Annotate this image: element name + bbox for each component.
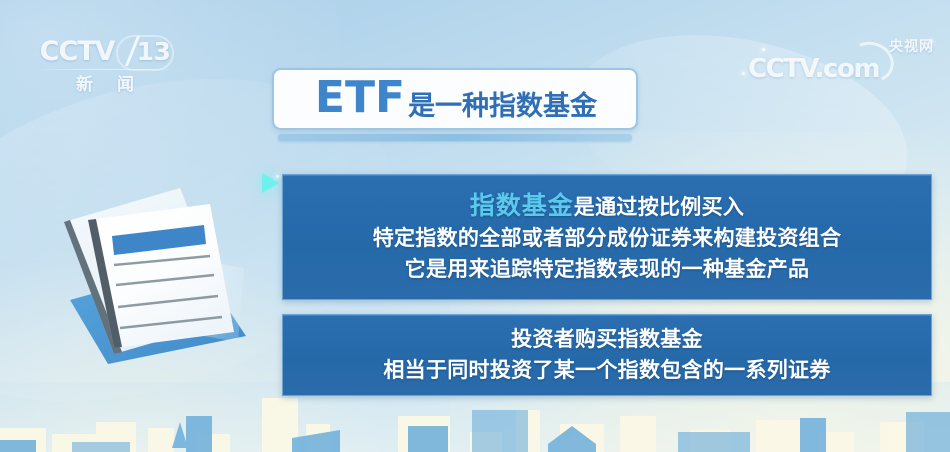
document-stack-illustration (48, 168, 270, 364)
network-name: CCTV (40, 36, 115, 67)
info-line-text: 相当于同时投资了某一个指数包含的一系列证券 (383, 358, 830, 382)
channel-name-cn: 新 闻 (30, 70, 180, 95)
highlight-term: 指数基金 (470, 191, 574, 220)
info-box-definition: 指数基金是通过按比例买入 特定指数的全部或者部分成份证券来构建投资组合 它是用来… (282, 174, 932, 300)
info-line-text: 它是用来追踪特定指数表现的一种基金产品 (405, 257, 810, 281)
watermark-site: CCTV.com (748, 54, 879, 84)
headline-banner: ETF 是一种指数基金 (272, 68, 638, 130)
info-line: 它是用来追踪特定指数表现的一种基金产品 (405, 254, 810, 285)
info-line: 相当于同时投资了某一个指数包含的一系列证券 (383, 355, 830, 386)
play-triangle-icon (262, 173, 279, 193)
info-line-text: 特定指数的全部或者部分成份证券来构建投资组合 (373, 226, 842, 250)
sparkle-dot (742, 72, 745, 75)
info-box-investor: 投资者购买指数基金 相当于同时投资了某一个指数包含的一系列证券 (282, 314, 932, 396)
cctv-com-watermark: 央视网 CCTV.com (748, 36, 938, 86)
info-line: 指数基金是通过按比例买入 (470, 190, 744, 223)
info-line-text: 是通过按比例买入 (574, 195, 744, 219)
info-line-text: 投资者购买指数基金 (511, 327, 703, 351)
broadcast-graphic-frame: CCTV 13 新 闻 央视网 CCTV.com (0, 0, 950, 452)
headline-suffix: 是一种指数基金 (408, 92, 597, 126)
headline-underline-bar (278, 134, 632, 141)
cctv13-channel-logo: CCTV 13 新 闻 (30, 34, 180, 92)
headline-acronym: ETF (315, 76, 405, 120)
info-line: 投资者购买指数基金 (511, 324, 703, 355)
watermark-site-cn: 央视网 (889, 36, 934, 56)
info-line: 特定指数的全部或者部分成份证券来构建投资组合 (373, 223, 842, 254)
logo-divider-rule (34, 69, 178, 70)
